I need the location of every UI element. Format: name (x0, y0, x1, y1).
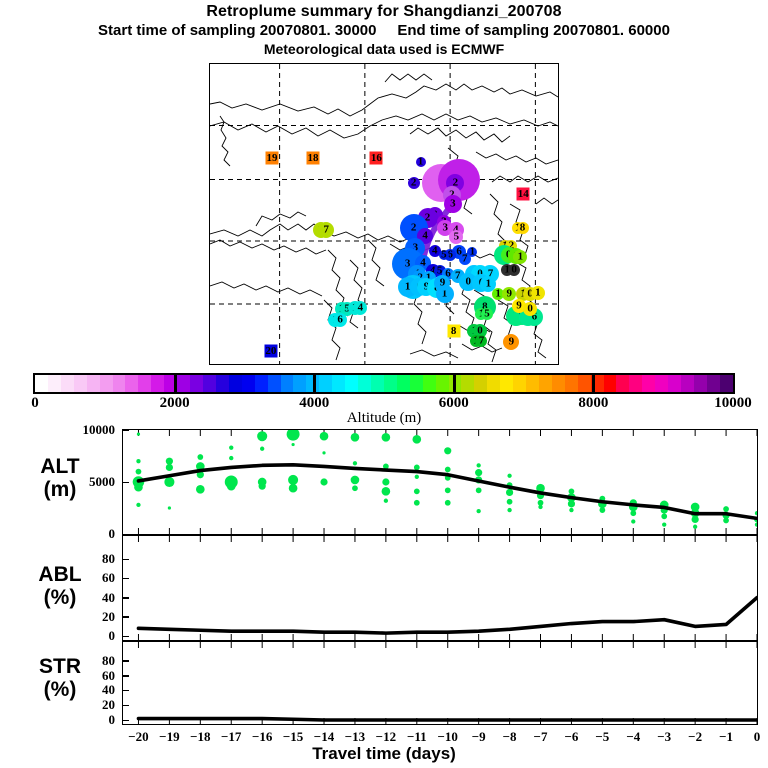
x-tick-label: 0 (754, 729, 761, 745)
alt-scatter-point (229, 456, 233, 460)
alt-scatter-point (599, 507, 605, 513)
y-tick-label-alt: 0 (0, 526, 115, 542)
plume-square-label: 20 (265, 345, 276, 357)
x-tick-label: −14 (314, 729, 334, 745)
plume-marker-label: 6 (337, 314, 343, 325)
plume-square-label: 16 (371, 152, 382, 164)
y-tick-label-alt: 10000 (0, 422, 115, 438)
plume-marker-label: 9 (509, 337, 515, 348)
alt-scatter-point (351, 433, 360, 442)
alt-scatter-point (353, 461, 357, 465)
x-tick-label: −12 (376, 729, 396, 745)
x-tick-label: −8 (503, 729, 517, 745)
y-tick-mark (122, 534, 129, 536)
alt-scatter-point (662, 522, 666, 526)
y-tick-label-alt: 5000 (0, 474, 115, 490)
alt-scatter-point (287, 430, 300, 441)
alt-scatter-point (289, 484, 298, 493)
alt-scatter-point (476, 487, 482, 493)
alt-scatter-point (476, 463, 480, 467)
colorbar-segment (100, 375, 113, 392)
x-tick-label: −16 (252, 729, 272, 745)
alt-scatter-point (168, 506, 171, 509)
alt-scatter-point (538, 505, 542, 509)
x-tick-label: −1 (719, 729, 733, 745)
alt-scatter-point (723, 506, 729, 512)
abl-panel[interactable] (122, 535, 758, 641)
str-plot (123, 642, 757, 724)
y-tick-mark (122, 597, 129, 599)
alt-scatter-point (229, 446, 233, 450)
alt-scatter-point (382, 487, 391, 496)
colorbar-segment (539, 375, 552, 392)
y-tick-label-abl: 20 (0, 609, 115, 625)
alt-scatter-point (166, 464, 173, 471)
alt-scatter-point (444, 447, 451, 454)
colorbar-segment (565, 375, 578, 392)
plume-marker-label: 5 (484, 308, 490, 319)
colorbar-segment (345, 375, 358, 392)
x-tick-label: −20 (128, 729, 148, 745)
plume-marker-label: 4 (358, 303, 364, 314)
colorbar-segment (358, 375, 371, 392)
alt-scatter-point (320, 478, 327, 485)
plume-square-label: 18 (308, 152, 319, 164)
plume-marker-label: 9 (440, 278, 446, 289)
colorbar-segment (423, 375, 436, 392)
x-tick-label: −4 (626, 729, 640, 745)
retroplume-map[interactable]: 0112223323234543461657344564217107061310… (209, 63, 559, 365)
colorbar-segment (151, 375, 164, 392)
alt-scatter-point (569, 508, 573, 512)
plume-square-label: 19 (266, 152, 277, 164)
y-tick-label-abl: 80 (0, 551, 115, 567)
colorbar-segment (578, 375, 591, 392)
x-axis-title: Travel time (days) (0, 744, 768, 764)
alt-scatter-point (352, 485, 358, 491)
colorbar-segment (319, 375, 332, 392)
alt-scatter-point (136, 459, 140, 463)
colorbar-segment (203, 375, 216, 392)
colorbar-segment (500, 375, 513, 392)
x-tick-label: −5 (595, 729, 609, 745)
alt-scatter-point (382, 433, 391, 442)
alt-scatter-point (414, 488, 420, 494)
colorbar-segment (410, 375, 423, 392)
alt-scatter-point (134, 483, 143, 492)
x-tick-label: −3 (657, 729, 671, 745)
y-tick-mark (122, 559, 129, 561)
alt-plot (123, 430, 757, 534)
alt-panel[interactable] (122, 429, 758, 535)
colorbar-segment (371, 375, 384, 392)
colorbar-segment (229, 375, 242, 392)
abl-plot (123, 536, 757, 640)
plume-marker-label: 7 (323, 224, 329, 235)
alt-scatter-point (351, 476, 360, 485)
colorbar-segment (668, 375, 681, 392)
alt-scatter-point (260, 447, 264, 451)
alt-scatter-point (322, 451, 325, 454)
colorbar-segment (552, 375, 565, 392)
alt-scatter-point (507, 499, 513, 505)
plume-square-label: 14 (518, 188, 529, 200)
alt-scatter-point (164, 477, 174, 487)
x-tick-label: −13 (345, 729, 365, 745)
alt-scatter-point (227, 482, 236, 491)
colorbar-segment (526, 375, 539, 392)
alt-scatter-point (661, 513, 667, 519)
alt-scatter-point (412, 435, 421, 444)
colorbar-segment (255, 375, 268, 392)
alt-scatter-point (414, 465, 420, 471)
colorbar-segment (487, 375, 500, 392)
x-tick-label: −10 (438, 729, 458, 745)
colorbar-segment (177, 375, 190, 392)
header-block: Retroplume summary for Shangdianzi_20070… (0, 2, 768, 58)
alt-scatter-point (259, 483, 266, 490)
plume-marker-label: 0 (511, 264, 517, 275)
plume-marker-label: 8 (520, 223, 526, 234)
x-tick-label: −17 (221, 729, 241, 745)
alt-scatter-point (166, 458, 173, 465)
alt-scatter-point (414, 500, 420, 506)
x-tick-label: −2 (688, 729, 702, 745)
alt-scatter-point (288, 475, 298, 485)
alt-scatter-point (476, 509, 480, 513)
alt-scatter-point (291, 443, 294, 446)
y-tick-mark (122, 616, 129, 618)
plume-marker-label: 1 (418, 156, 424, 167)
str-panel[interactable] (122, 641, 758, 725)
colorbar-segment (48, 375, 61, 392)
alt-scatter-point (320, 432, 329, 441)
x-tick-label: −15 (283, 729, 303, 745)
x-tick-label: −19 (159, 729, 179, 745)
plume-marker-label: 9 (516, 301, 522, 312)
alt-scatter-point (382, 478, 389, 485)
colorbar-divider (592, 373, 595, 394)
alt-scatter-point (507, 508, 511, 512)
x-tick-label: −7 (534, 729, 548, 745)
colorbar-segment (35, 375, 48, 392)
colorbar-segment (513, 375, 526, 392)
plume-marker-label: 7 (479, 335, 485, 346)
colorbar-segment (436, 375, 449, 392)
alt-scatter-point (506, 489, 513, 496)
alt-scatter-point (723, 518, 729, 524)
alt-scatter-point (475, 469, 482, 476)
colorbar-divider (313, 373, 316, 394)
colorbar-segment (125, 375, 138, 392)
x-tick-label: −6 (564, 729, 578, 745)
alt-scatter-point (197, 454, 203, 460)
plume-marker-label: 1 (535, 288, 541, 299)
colorbar-segment (113, 375, 126, 392)
alt-scatter-point (384, 499, 388, 503)
colorbar-segment (474, 375, 487, 392)
colorbar-segment (74, 375, 87, 392)
plume-marker-label: 2 (411, 223, 417, 234)
plume-marker-label: 0 (527, 303, 533, 314)
y-tick-mark (122, 636, 129, 638)
colorbar-segment (332, 375, 345, 392)
colorbar-segment (707, 375, 720, 392)
plume-marker-label: 1 (486, 278, 492, 289)
plume-marker-label: 0 (465, 276, 471, 287)
alt-scatter-point (136, 503, 140, 507)
plume-marker-label: 2 (411, 177, 417, 188)
y-tick-label-abl: 40 (0, 590, 115, 606)
y-tick-mark (122, 430, 129, 432)
alt-scatter-point (631, 519, 635, 523)
alt-scatter-point (445, 467, 451, 473)
colorbar-segment (642, 375, 655, 392)
colorbar-title: Altitude (m) (0, 410, 768, 427)
colorbar-segment (281, 375, 294, 392)
colorbar-segment (384, 375, 397, 392)
y-tick-label-str: 60 (0, 668, 115, 684)
alt-scatter-point (415, 475, 419, 479)
y-tick-label-abl: 60 (0, 570, 115, 586)
y-tick-mark (122, 482, 129, 484)
plume-marker-label: 4 (422, 231, 428, 242)
colorbar-segment (216, 375, 229, 392)
alt-scatter-point (568, 500, 575, 507)
y-tick-label-str: 40 (0, 682, 115, 698)
colorbar-segment (397, 375, 410, 392)
y-tick-mark (122, 705, 129, 707)
colorbar-segment (604, 375, 617, 392)
colorbar-segment (190, 375, 203, 392)
alt-scatter-point (257, 431, 267, 441)
x-tick-label: −18 (190, 729, 210, 745)
plume-marker-label: 3 (450, 199, 456, 210)
alt-scatter-point (137, 433, 140, 436)
colorbar-segment (655, 375, 668, 392)
plume-square-label: 8 (451, 325, 457, 337)
plume-marker-label: 1 (518, 252, 524, 263)
alt-scatter-point (630, 510, 636, 516)
colorbar-segment (694, 375, 707, 392)
colorbar-divider (453, 373, 456, 394)
x-tick-label: −11 (407, 729, 427, 745)
y-tick-mark (122, 675, 129, 677)
colorbar-segment (138, 375, 151, 392)
plume-marker-label: 9 (507, 288, 513, 299)
plume-marker-label: 5 (441, 250, 447, 261)
plume-marker-label: 4 (432, 245, 438, 256)
colorbar-segment (87, 375, 100, 392)
colorbar-segment (681, 375, 694, 392)
colorbar-segment (616, 375, 629, 392)
page-title: Retroplume summary for Shangdianzi_20070… (0, 2, 768, 21)
y-tick-label-str: 20 (0, 697, 115, 713)
colorbar-segment (293, 375, 306, 392)
alt-scatter-point (755, 511, 757, 515)
alt-scatter-point (445, 487, 451, 493)
altitude-colorbar[interactable] (33, 373, 735, 394)
y-tick-label-str: 0 (0, 712, 115, 728)
sampling-time-line: Start time of sampling 20070801. 30000 E… (0, 21, 768, 40)
colorbar-segment (242, 375, 255, 392)
y-tick-mark (122, 720, 129, 722)
alt-scatter-point (445, 500, 451, 506)
alt-scatter-point (136, 469, 142, 475)
plume-marker-label: 5 (454, 231, 460, 242)
alt-scatter-point (693, 525, 697, 529)
y-tick-mark (122, 578, 129, 580)
plume-marker-label: 1 (495, 288, 501, 299)
colorbar-divider (174, 373, 177, 394)
y-tick-label-str: 80 (0, 653, 115, 669)
x-tick-label: −9 (472, 729, 486, 745)
y-tick-mark (122, 690, 129, 692)
colorbar-segment (461, 375, 474, 392)
alt-scatter-point (507, 474, 511, 478)
met-data-line: Meteorological data used is ECMWF (0, 40, 768, 58)
alt-scatter-point (692, 516, 699, 523)
y-tick-label-abl: 0 (0, 628, 115, 644)
plume-marker-label: 7 (462, 254, 468, 265)
colorbar-segment (61, 375, 74, 392)
colorbar-segment (720, 375, 733, 392)
alt-scatter-point (755, 522, 757, 526)
colorbar-segment (268, 375, 281, 392)
alt-scatter-point (196, 485, 205, 494)
colorbar-segment (629, 375, 642, 392)
y-tick-mark (122, 660, 129, 662)
